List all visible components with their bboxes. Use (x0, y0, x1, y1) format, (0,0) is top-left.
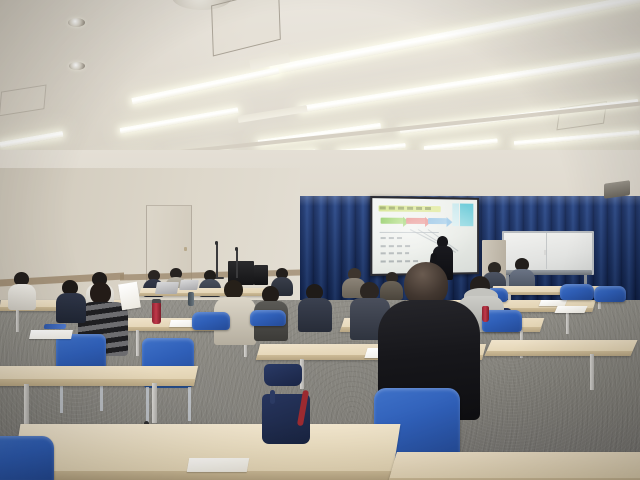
chair-backrest (192, 312, 230, 330)
table-edge (12, 471, 393, 480)
chair-backrest (0, 436, 54, 480)
whiteboard-seam (546, 233, 547, 269)
paper-handout (118, 282, 141, 311)
paper-handout (187, 458, 249, 472)
shoulder-bag (264, 364, 302, 386)
chair-leg (146, 387, 149, 423)
microphone-head-icon (215, 241, 218, 245)
attendee-body (56, 293, 86, 323)
training-table (484, 340, 637, 356)
thermos-flask (482, 306, 489, 322)
chair-leg (188, 387, 191, 421)
attendee-body (380, 281, 403, 300)
thermos-flask (152, 302, 161, 324)
microphone-stand (216, 244, 218, 278)
attendee-body (8, 284, 36, 310)
whiteboard-marker-icon[interactable] (544, 250, 546, 255)
chair-backrest (594, 286, 626, 302)
laptop (179, 280, 199, 290)
table-edge (484, 351, 632, 356)
water-bottle (188, 292, 194, 306)
door-handle-icon[interactable] (184, 247, 187, 251)
thermos-cap (152, 299, 161, 303)
seminar-room-photo (0, 0, 640, 480)
table-leg (16, 310, 19, 332)
training-table (0, 366, 198, 386)
backpack-strap (270, 390, 275, 404)
chair-backrest (250, 310, 286, 326)
paper-handout (29, 330, 73, 339)
table-leg (136, 330, 139, 356)
downlight-icon (68, 18, 85, 27)
microphone-head-icon (235, 247, 238, 251)
table-leg (590, 354, 594, 390)
laptop (155, 282, 179, 294)
table-leg (24, 384, 29, 426)
av-speaker (254, 265, 268, 285)
table-edge (0, 379, 195, 386)
table-leg (566, 310, 569, 334)
paper-handout (554, 306, 587, 313)
downlight-icon (69, 62, 85, 70)
chair-backrest (560, 284, 594, 300)
pen-case (43, 324, 66, 329)
attendee-head (90, 282, 111, 304)
microphone-stand (236, 250, 238, 278)
attendee-body (298, 298, 332, 332)
training-table (387, 452, 640, 480)
table-leg (152, 383, 157, 423)
